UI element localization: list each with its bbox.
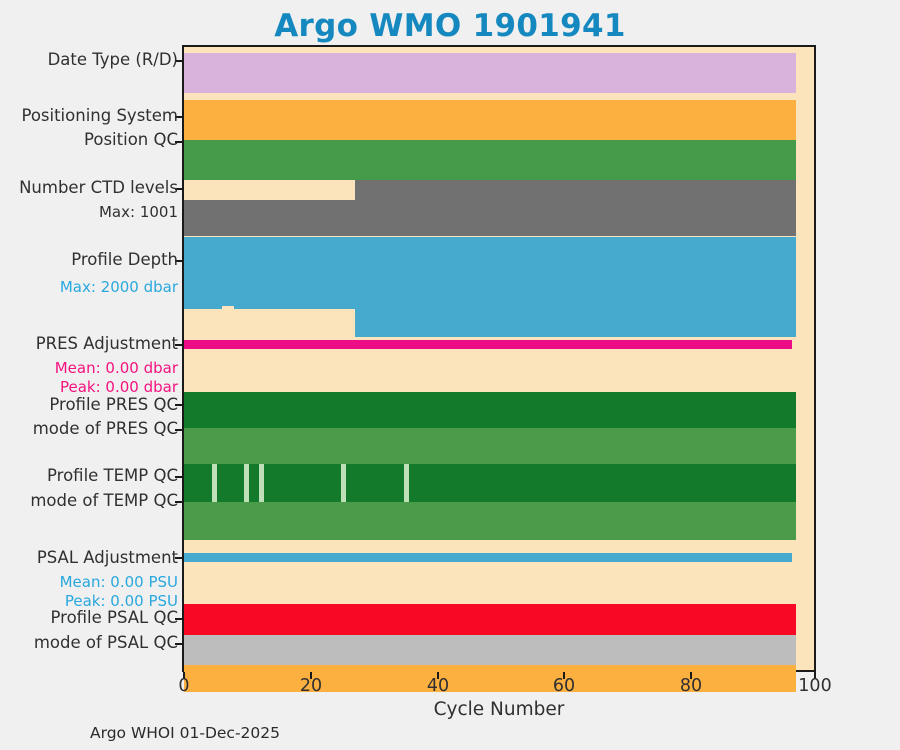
- temp-qc-gap: [259, 464, 264, 502]
- ylabel-profile-psal-qc: Profile PSAL QC: [50, 610, 178, 627]
- x-tick-label: 60: [529, 676, 599, 696]
- temp-qc-gap: [212, 464, 217, 502]
- band-profile-depth-high: [355, 237, 796, 337]
- ylabel-mode-psal-qc: mode of PSAL QC: [34, 635, 178, 652]
- ylabel-psal-adjustment-peak: Peak: 0.00 PSU: [65, 594, 178, 609]
- ylabel-profile-depth: Profile Depth: [71, 252, 178, 269]
- x-tick-label: 20: [276, 676, 346, 696]
- x-tick-label: 40: [403, 676, 473, 696]
- plot-area: [182, 45, 816, 672]
- band-mode-psal-qc-grey: [184, 635, 796, 665]
- x-tick-label: 100: [780, 676, 850, 696]
- ylabel-psal-adjustment: PSAL Adjustment: [37, 550, 178, 567]
- ylabel-pres-adjustment: PRES Adjustment: [36, 336, 178, 353]
- band-mode-temp-qc: [184, 502, 796, 540]
- band-date-type: [184, 53, 796, 93]
- band-profile-psal-qc: [184, 604, 796, 635]
- temp-qc-gap: [341, 464, 346, 502]
- ylabel-pres-adjustment-peak: Peak: 0.00 dbar: [60, 380, 178, 395]
- band-ctd-levels-high: [355, 180, 796, 236]
- ylabel-mode-temp-qc: mode of TEMP QC: [30, 493, 178, 510]
- ylabel-profile-depth-max: Max: 2000 dbar: [60, 280, 178, 295]
- band-pres-adjustment: [184, 340, 792, 349]
- band-profile-depth-low: [184, 237, 355, 309]
- band-psal-adjustment: [184, 553, 792, 562]
- temp-qc-gap: [404, 464, 409, 502]
- ylabel-number-ctd-levels: Number CTD levels: [19, 180, 178, 197]
- band-profile-depth-notch: [222, 306, 234, 310]
- x-axis-title: Cycle Number: [182, 699, 816, 720]
- ylabel-profile-temp-qc: Profile TEMP QC: [47, 468, 178, 485]
- band-ctd-levels-low: [184, 200, 355, 236]
- band-positioning-system: [184, 100, 796, 140]
- ylabel-mode-pres-qc: mode of PRES QC: [33, 421, 178, 438]
- x-tick-label: 0: [149, 676, 219, 696]
- ylabel-positioning-system: Positioning System: [21, 108, 178, 125]
- ylabel-profile-pres-qc: Profile PRES QC: [49, 397, 178, 414]
- band-mode-pres-qc: [184, 428, 796, 466]
- band-profile-pres-qc: [184, 392, 796, 428]
- ylabel-date-type: Date Type (R/D): [48, 52, 178, 69]
- x-tick-label: 80: [656, 676, 726, 696]
- plot-bands-container: [184, 47, 814, 670]
- ylabel-pres-adjustment-mean: Mean: 0.00 dbar: [55, 361, 178, 376]
- ylabel-psal-adjustment-mean: Mean: 0.00 PSU: [60, 575, 178, 590]
- footer-credit: Argo WHOI 01-Dec-2025: [90, 724, 280, 742]
- band-profile-temp-qc: [184, 464, 796, 502]
- page-title: Argo WMO 1901941: [0, 8, 900, 44]
- temp-qc-gap: [244, 464, 249, 502]
- ylabel-position-qc: Position QC: [84, 132, 178, 149]
- band-position-qc: [184, 140, 796, 180]
- ylabel-number-ctd-levels-max: Max: 1001: [99, 205, 178, 220]
